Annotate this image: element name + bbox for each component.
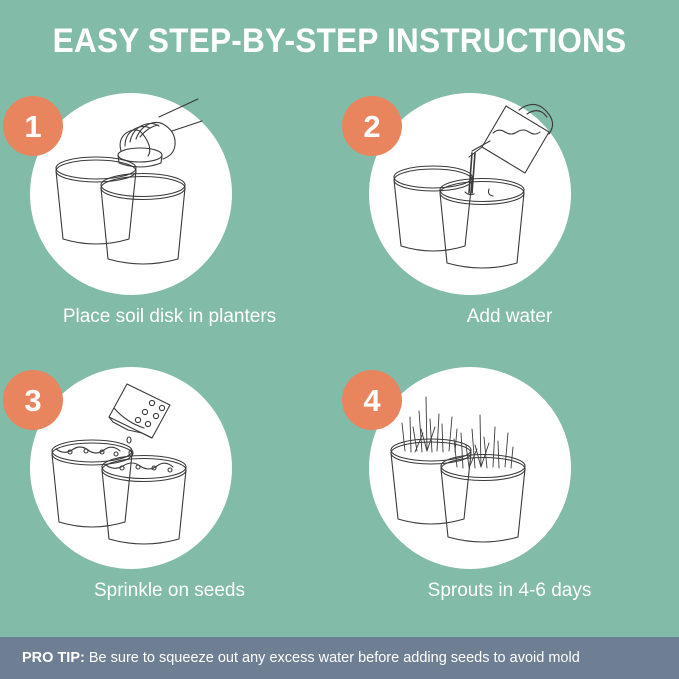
step-badge-1: 1	[3, 96, 63, 156]
step-caption-3: Sprinkle on seeds	[0, 578, 339, 603]
step-card-4: 4 Sprouts in 4-6 days	[340, 360, 679, 632]
step-card-3: 3 Sprinkle on seeds	[0, 360, 339, 632]
step-badge-2: 2	[342, 96, 402, 156]
instructions-poster: EASY STEP-BY-STEP INSTRUCTIONS	[0, 0, 679, 679]
step-badge-3: 3	[3, 370, 63, 430]
pro-tip-body: Be sure to squeeze out any excess water …	[89, 650, 580, 666]
step-caption-2: Add water	[340, 304, 679, 329]
pro-tip-bar: PRO TIP: Be sure to squeeze out any exce…	[0, 637, 679, 679]
step-badge-4: 4	[342, 370, 402, 430]
page-title: EASY STEP-BY-STEP INSTRUCTIONS	[24, 22, 655, 61]
steps-grid: 1 Place soil disk in planters	[0, 86, 679, 631]
step-caption-4: Sprouts in 4-6 days	[340, 578, 679, 603]
pro-tip-text: PRO TIP: Be sure to squeeze out any exce…	[22, 650, 580, 666]
step-caption-1: Place soil disk in planters	[0, 304, 339, 329]
step-card-2: 2 Add water	[340, 86, 679, 358]
step-card-1: 1 Place soil disk in planters	[0, 86, 339, 358]
pro-tip-label: PRO TIP:	[22, 650, 85, 666]
